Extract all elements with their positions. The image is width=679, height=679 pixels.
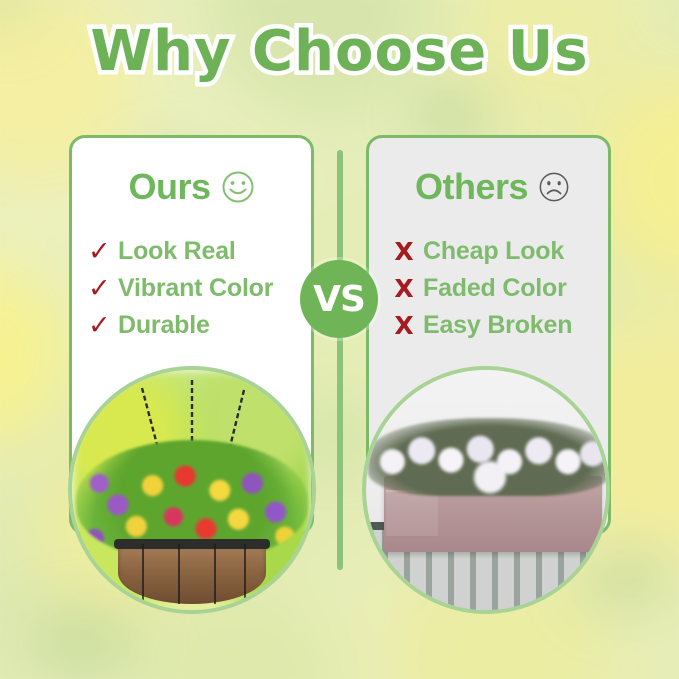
cross-mark-icon: X <box>393 313 415 338</box>
faded-flower-cluster <box>368 418 610 496</box>
card-heading-ours: Ours <box>72 166 311 208</box>
feature-list-others: X Cheap Look X Faded Color X Easy Broken <box>393 233 600 344</box>
hanging-basket-photo <box>68 366 316 614</box>
cross-mark-icon: X <box>393 239 415 264</box>
check-mark-icon: ✓ <box>88 275 110 302</box>
feature-row: X Easy Broken <box>393 307 600 344</box>
card-heading-label: Ours <box>128 166 210 208</box>
feature-row: ✓ Vibrant Color <box>88 270 303 307</box>
card-heading-label: Others <box>415 166 528 208</box>
vs-divider-line <box>337 150 343 570</box>
feature-label: Cheap Look <box>423 237 564 266</box>
card-heading-others: Others <box>369 166 612 208</box>
infographic-canvas: Why Choose Us Ours ✓ Look Real ✓ Vibrant… <box>0 0 679 679</box>
feature-row: ✓ Durable <box>88 307 303 344</box>
feature-label: Look Real <box>118 237 236 266</box>
coco-basket <box>118 542 266 604</box>
vs-badge: VS <box>300 260 378 338</box>
railing-planter-photo <box>362 366 610 614</box>
feature-row: X Cheap Look <box>393 233 600 270</box>
smiley-face-icon <box>221 170 255 204</box>
feature-label: Faded Color <box>423 274 567 303</box>
feature-list-ours: ✓ Look Real ✓ Vibrant Color ✓ Durable <box>88 233 303 344</box>
feature-label: Easy Broken <box>423 311 572 340</box>
feature-row: X Faded Color <box>393 270 600 307</box>
cross-mark-icon: X <box>393 276 415 301</box>
check-mark-icon: ✓ <box>88 238 110 265</box>
page-title: Why Choose Us <box>0 18 679 86</box>
feature-row: ✓ Look Real <box>88 233 303 270</box>
check-mark-icon: ✓ <box>88 312 110 339</box>
frowning-face-icon <box>538 171 570 203</box>
feature-label: Vibrant Color <box>118 274 273 303</box>
feature-label: Durable <box>118 311 210 340</box>
